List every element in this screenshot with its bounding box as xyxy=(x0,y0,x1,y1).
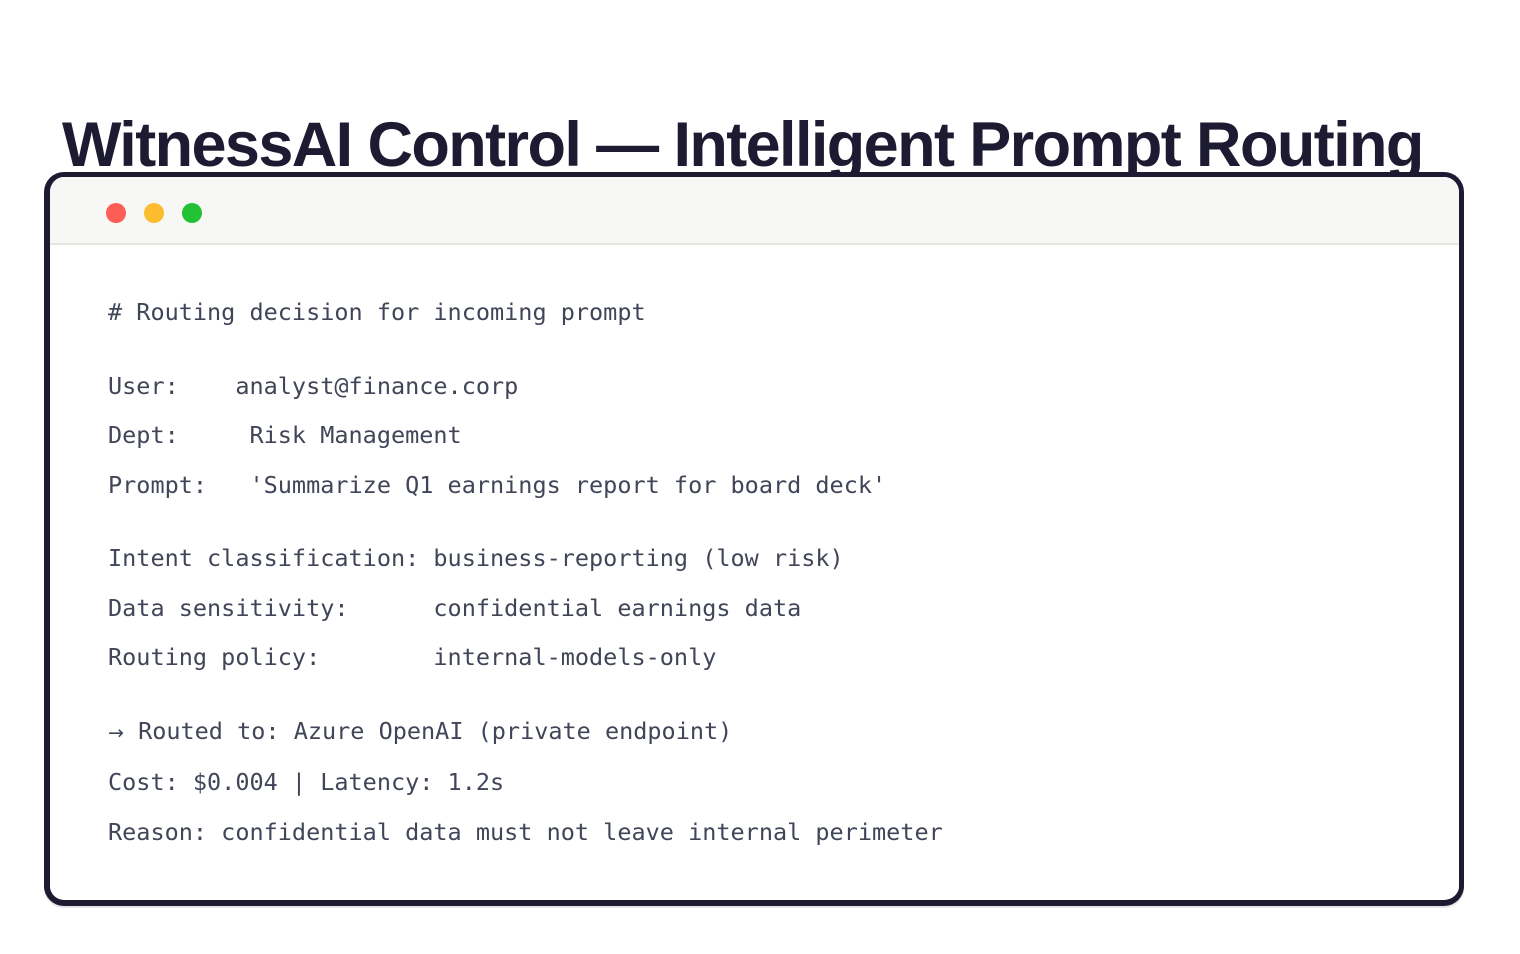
close-window-icon[interactable] xyxy=(106,203,126,223)
log-line-sensitivity: Data sensitivity: confidential earnings … xyxy=(108,584,1459,634)
log-line-blank-2 xyxy=(108,510,1459,534)
log-line-dept: Dept: Risk Management xyxy=(108,411,1459,461)
log-line-cost: Cost: $0.004 | Latency: 1.2s xyxy=(108,758,1459,808)
log-line-comment: # Routing decision for incoming prompt xyxy=(108,288,1459,338)
routing-decision-log: # Routing decision for incoming promptUs… xyxy=(108,288,1459,857)
right-arrow-icon: → xyxy=(108,722,124,744)
log-line-blank-1 xyxy=(108,338,1459,362)
log-line-user: User: analyst@finance.corp xyxy=(108,362,1459,412)
log-line-routed: → Routed to: Azure OpenAI (private endpo… xyxy=(108,707,1459,759)
log-line-intent: Intent classification: business-reportin… xyxy=(108,534,1459,584)
log-line-reason: Reason: confidential data must not leave… xyxy=(108,808,1459,858)
window-titlebar xyxy=(50,177,1459,245)
zoom-window-icon[interactable] xyxy=(182,203,202,223)
terminal-body: # Routing decision for incoming promptUs… xyxy=(50,245,1459,891)
log-line-prompt: Prompt: 'Summarize Q1 earnings report fo… xyxy=(108,461,1459,511)
minimize-window-icon[interactable] xyxy=(144,203,164,223)
log-line-routed-text: Routed to: Azure OpenAI (private endpoin… xyxy=(124,717,732,745)
screenshot-canvas: WitnessAI Control — Intelligent Prompt R… xyxy=(0,0,1520,954)
terminal-window: # Routing decision for incoming promptUs… xyxy=(44,172,1464,906)
log-line-blank-3 xyxy=(108,683,1459,707)
log-line-policy: Routing policy: internal-models-only xyxy=(108,633,1459,683)
traffic-light-group xyxy=(106,203,202,223)
